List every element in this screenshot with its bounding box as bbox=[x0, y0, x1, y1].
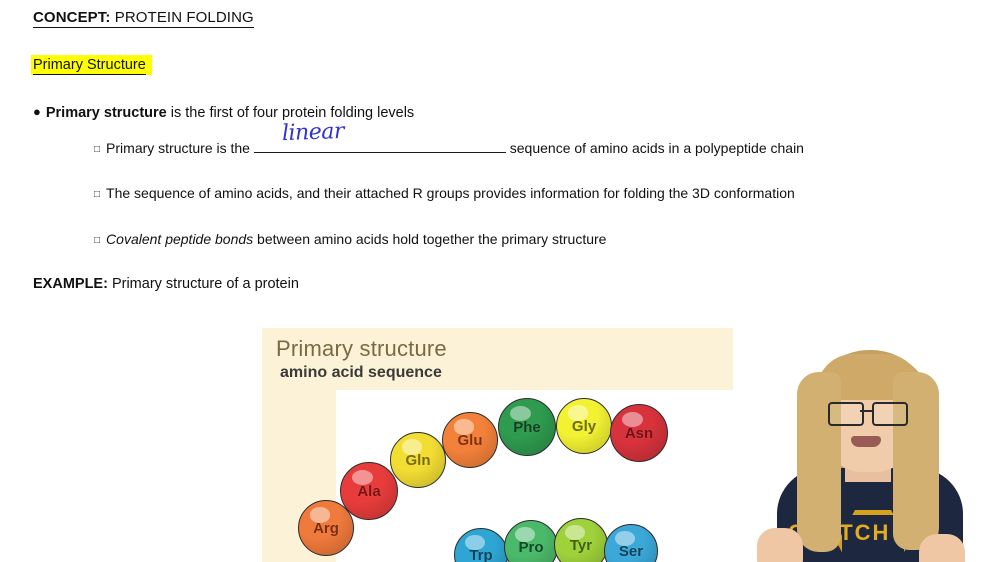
bullet-primary-structure: ●Primary structure is the first of four … bbox=[33, 103, 414, 122]
square-bullet-icon: □ bbox=[94, 189, 100, 200]
amino-acid-sphere: Glu bbox=[442, 412, 498, 468]
example-rest-text: Primary structure of a protein bbox=[108, 276, 299, 292]
example-line: EXAMPLE: Primary structure of a protein bbox=[33, 276, 299, 293]
glasses-right-lens-icon bbox=[872, 402, 908, 426]
amino-acid-sphere: Phe bbox=[498, 398, 556, 456]
lecture-notes-area: CONCEPT: PROTEIN FOLDING Primary Structu… bbox=[0, 0, 1000, 320]
sub-c-italic-text: Covalent peptide bonds bbox=[106, 231, 253, 247]
glasses-bridge-icon bbox=[860, 410, 872, 412]
amino-acid-label: Pro bbox=[518, 539, 543, 556]
amino-acid-label: Gln bbox=[406, 452, 431, 469]
section-heading-highlighted: Primary Structure bbox=[31, 55, 152, 75]
amino-acid-label: Gly bbox=[572, 418, 596, 435]
amino-acid-label: Phe bbox=[513, 419, 541, 436]
amino-acid-label: Trp bbox=[469, 547, 492, 562]
sub-bullet-sequence-info: □The sequence of amino acids, and their … bbox=[94, 185, 795, 203]
bullet1-rest-text: is the first of four protein folding lev… bbox=[167, 105, 414, 121]
amino-acid-label: Asn bbox=[625, 425, 653, 442]
sub-b-text: The sequence of amino acids, and their a… bbox=[106, 185, 795, 201]
bullet1-bold-text: Primary structure bbox=[46, 105, 167, 121]
sub-bullet-fill-in-blank: □Primary structure is the linear sequenc… bbox=[94, 139, 804, 158]
amino-acid-label: Arg bbox=[313, 520, 339, 537]
amino-acid-sphere: Gly bbox=[556, 398, 612, 454]
instructor-video-overlay[interactable]: CLUTCH bbox=[733, 328, 1000, 562]
example-label: EXAMPLE: bbox=[33, 276, 108, 292]
amino-acid-label: Ala bbox=[357, 483, 380, 500]
instructor-figure: CLUTCH bbox=[733, 328, 1000, 562]
glasses-left-lens-icon bbox=[828, 402, 864, 426]
hair-left-strand bbox=[797, 372, 841, 552]
amino-acid-label: Ser bbox=[619, 543, 643, 560]
figure-subtitle: amino acid sequence bbox=[280, 364, 442, 382]
amino-acid-label: Glu bbox=[458, 432, 483, 449]
amino-acid-sphere: Asn bbox=[610, 404, 668, 462]
sub-a-before-text: Primary structure is the bbox=[106, 140, 254, 156]
amino-acid-sphere: Gln bbox=[390, 432, 446, 488]
figure-title: Primary structure bbox=[276, 336, 447, 362]
fill-in-blank-field[interactable]: linear bbox=[254, 139, 506, 157]
left-hand bbox=[757, 528, 803, 562]
square-bullet-icon: □ bbox=[94, 235, 100, 246]
right-hand bbox=[919, 534, 965, 562]
handwritten-answer: linear bbox=[282, 123, 344, 142]
primary-structure-figure: Primary structure amino acid sequence Ar… bbox=[262, 328, 733, 562]
sub-c-rest-text: between amino acids hold together the pr… bbox=[253, 231, 606, 247]
sub-a-after-text: sequence of amino acids in a polypeptide… bbox=[506, 140, 804, 156]
concept-label: CONCEPT: bbox=[33, 9, 110, 26]
concept-topic: PROTEIN FOLDING bbox=[110, 9, 253, 26]
amino-acid-label: Tyr bbox=[570, 537, 592, 554]
hair-right-strand bbox=[893, 372, 939, 550]
bullet-dot-icon: ● bbox=[33, 104, 41, 119]
amino-acid-sphere: Ala bbox=[340, 462, 398, 520]
sub-bullet-peptide-bonds: □Covalent peptide bonds between amino ac… bbox=[94, 231, 606, 249]
mouth bbox=[851, 436, 881, 447]
section-heading-label: Primary Structure bbox=[33, 57, 146, 75]
square-bullet-icon: □ bbox=[94, 144, 100, 155]
page-title: CONCEPT: PROTEIN FOLDING bbox=[33, 9, 254, 28]
